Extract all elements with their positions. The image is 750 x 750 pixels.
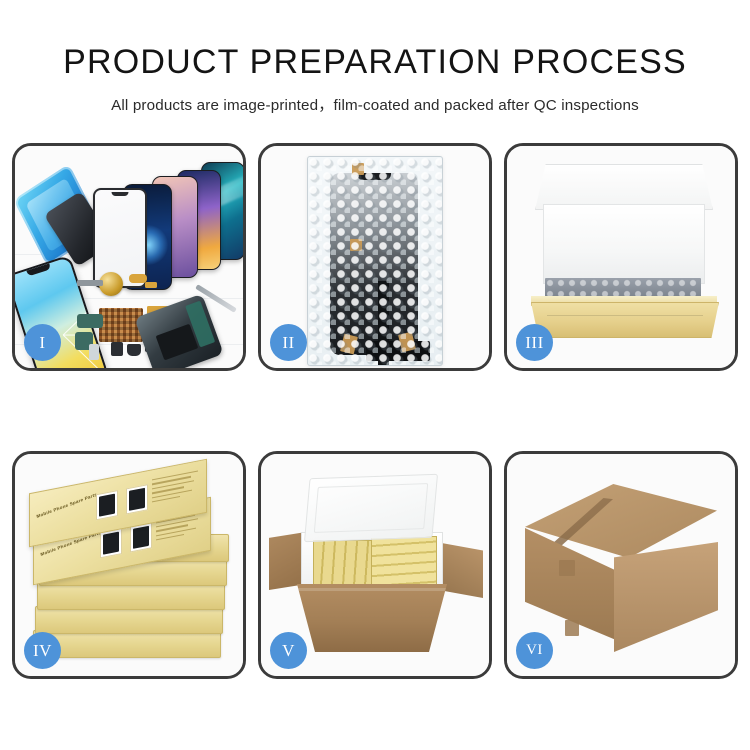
- step-panel-4[interactable]: Mobile Phone Spare Parts Mobile Phone Sp…: [12, 451, 246, 679]
- step-badge-4: IV: [24, 632, 61, 669]
- step-badge-2: II: [270, 324, 307, 361]
- screen-protector-icon: [93, 188, 147, 288]
- step-badge-6: VI: [516, 632, 553, 669]
- box-stack-icon: Mobile Phone Spare Parts Mobile Phone Sp…: [29, 478, 231, 664]
- step-panel-1[interactable]: I: [12, 143, 246, 371]
- step-panel-2[interactable]: II: [258, 143, 492, 371]
- flex-cable-icon: [77, 314, 103, 328]
- component-icon: [111, 342, 123, 356]
- step-badge-1: I: [24, 324, 61, 361]
- header: PRODUCT PREPARATION PROCESS All products…: [0, 0, 750, 115]
- step-panel-3[interactable]: III: [504, 143, 738, 371]
- page-subtitle: All products are image-printed，film-coat…: [0, 80, 750, 115]
- steps-grid: I II: [12, 143, 738, 695]
- step-badge-5: V: [270, 632, 307, 669]
- carton-seam-icon: [565, 620, 579, 636]
- yellow-boxes-icon: [371, 536, 437, 586]
- box-label: Mobile Phone Spare Parts: [36, 492, 97, 519]
- carton-seam-icon: [559, 560, 575, 576]
- step-panel-6[interactable]: VI: [504, 451, 738, 679]
- component-icon: [145, 282, 157, 288]
- page-title: PRODUCT PREPARATION PROCESS: [0, 0, 750, 80]
- bubble-wrap-bag-icon: [307, 156, 443, 366]
- foam-lid-icon: [304, 474, 438, 542]
- carton-right-face-icon: [614, 542, 718, 652]
- carton-body-icon: [297, 584, 447, 652]
- product-preparation-infographic: PRODUCT PREPARATION PROCESS All products…: [0, 0, 750, 750]
- disassembled-phone-icon: [134, 294, 224, 368]
- step-panel-5[interactable]: V: [258, 451, 492, 679]
- component-icon: [89, 344, 99, 360]
- kraft-box-front-icon: [531, 302, 719, 338]
- component-icon: [77, 280, 103, 286]
- component-icon: [127, 344, 141, 356]
- step-badge-3: III: [516, 324, 553, 361]
- foam-sheet-icon: [543, 204, 705, 284]
